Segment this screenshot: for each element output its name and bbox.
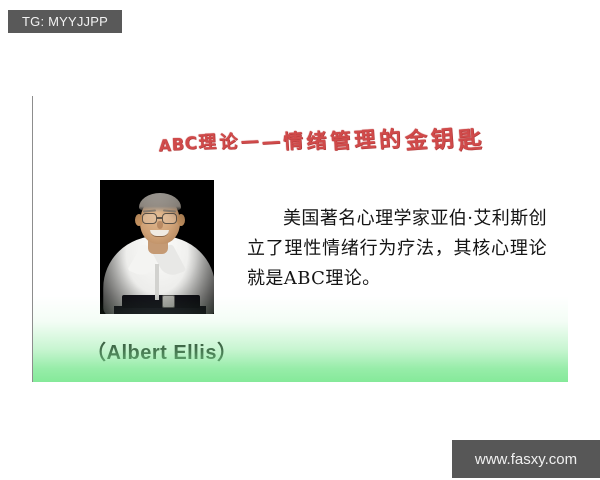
slide-title-glyph: 匙 bbox=[458, 128, 483, 153]
slide-title-glyph: 的 bbox=[379, 129, 402, 152]
slide-title-glyph: B bbox=[172, 137, 185, 154]
slide-title-glyph: 管 bbox=[330, 130, 352, 152]
portrait-eyeglass-bridge bbox=[157, 217, 162, 219]
slide-title-glyph: — bbox=[240, 133, 260, 153]
slide-title: ABC理论——情绪管理的金钥匙 bbox=[157, 118, 487, 164]
portrait-ear-right bbox=[177, 214, 185, 226]
portrait-caption: （Albert Ellis） bbox=[86, 336, 237, 365]
slide-title-glyph: — bbox=[261, 132, 281, 152]
slide-title-glyph: 理 bbox=[354, 130, 377, 153]
portrait-placket bbox=[155, 264, 159, 300]
portrait-nose bbox=[157, 221, 163, 229]
slide-title-glyph: 论 bbox=[219, 134, 238, 153]
site-watermark-label: www.fasxy.com bbox=[475, 452, 577, 467]
telegram-tag-label: TG: MYYJJPP bbox=[22, 15, 108, 28]
portrait-hair bbox=[139, 193, 181, 212]
slide-title-glyph: C bbox=[185, 136, 198, 154]
slide-title-glyph: 情 bbox=[283, 131, 304, 152]
slide-title-glyph: 绪 bbox=[306, 131, 327, 153]
slide-title-glyph: 钥 bbox=[431, 128, 456, 153]
slide-title-glyph: 金 bbox=[405, 129, 429, 153]
portrait-buckle bbox=[162, 295, 175, 308]
portrait-eyeglass-left bbox=[142, 213, 157, 224]
slide-title-glyph: 理 bbox=[198, 135, 216, 153]
portrait-eyeglass-right bbox=[162, 213, 177, 224]
presentation-slide: ABC理论——情绪管理的金钥匙 美国著名心理学家亚伯·艾利斯创立了理 bbox=[32, 96, 568, 382]
telegram-tag-badge: TG: MYYJJPP bbox=[8, 10, 122, 33]
slide-body-text: 美国著名心理学家亚伯·艾利斯创立了理性情绪行为疗法，其核心理论就是ABC理论。 bbox=[247, 204, 547, 294]
portrait-belt bbox=[122, 295, 200, 308]
site-watermark-badge: www.fasxy.com bbox=[452, 440, 600, 478]
portrait-photo bbox=[100, 180, 214, 314]
slide-title-glyph: A bbox=[159, 138, 172, 154]
portrait-frame bbox=[98, 178, 216, 316]
